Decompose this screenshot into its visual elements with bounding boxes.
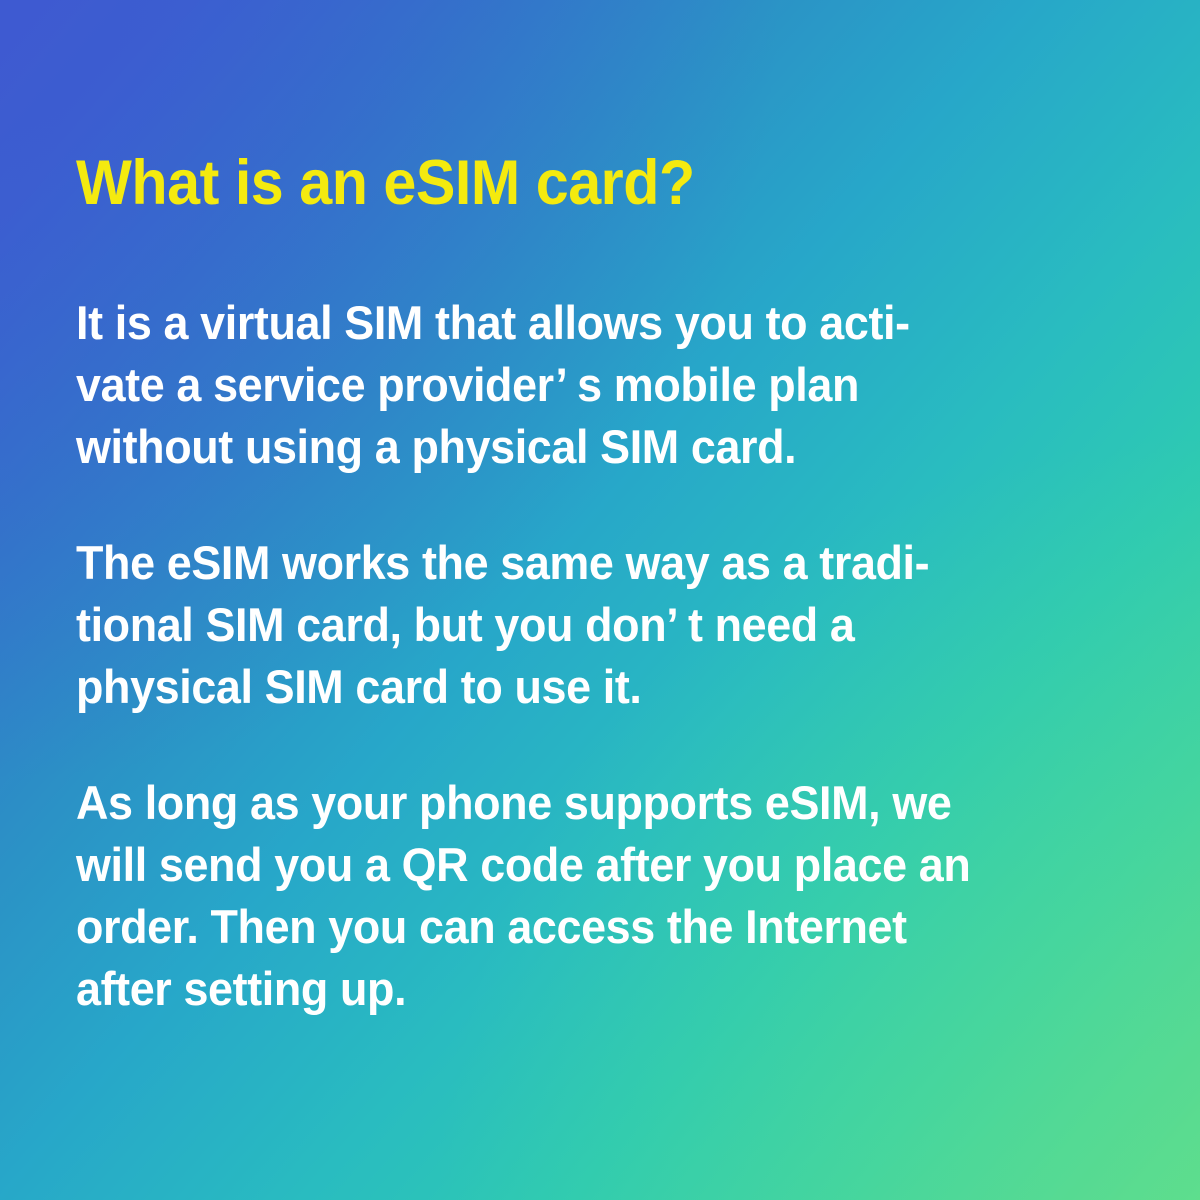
text-line: The eSIM works the same way as a tradi- (76, 532, 1017, 594)
text-line: As long as your phone supports eSIM, we (76, 772, 1017, 834)
text-line: vate a service provider’ s mobile plan (76, 354, 1017, 416)
text-line: will send you a QR code after you place … (76, 834, 1017, 896)
paragraph-comparison: The eSIM works the same way as a tradi- … (76, 532, 1017, 718)
text-line: after setting up. (76, 958, 1017, 1020)
text-line: tional SIM card, but you don’ t need a (76, 594, 1017, 656)
text-line: It is a virtual SIM that allows you to a… (76, 292, 1017, 354)
text-line: without using a physical SIM card. (76, 416, 1017, 478)
esim-info-poster: What is an eSIM card? It is a virtual SI… (0, 0, 1200, 1200)
text-line: order. Then you can access the Internet (76, 896, 1017, 958)
page-title: What is an eSIM card? (76, 152, 695, 215)
text-line: physical SIM card to use it. (76, 656, 1017, 718)
paragraph-usage: As long as your phone supports eSIM, we … (76, 772, 1017, 1020)
poster-body: It is a virtual SIM that allows you to a… (76, 292, 1061, 1020)
paragraph-definition: It is a virtual SIM that allows you to a… (76, 292, 1017, 478)
